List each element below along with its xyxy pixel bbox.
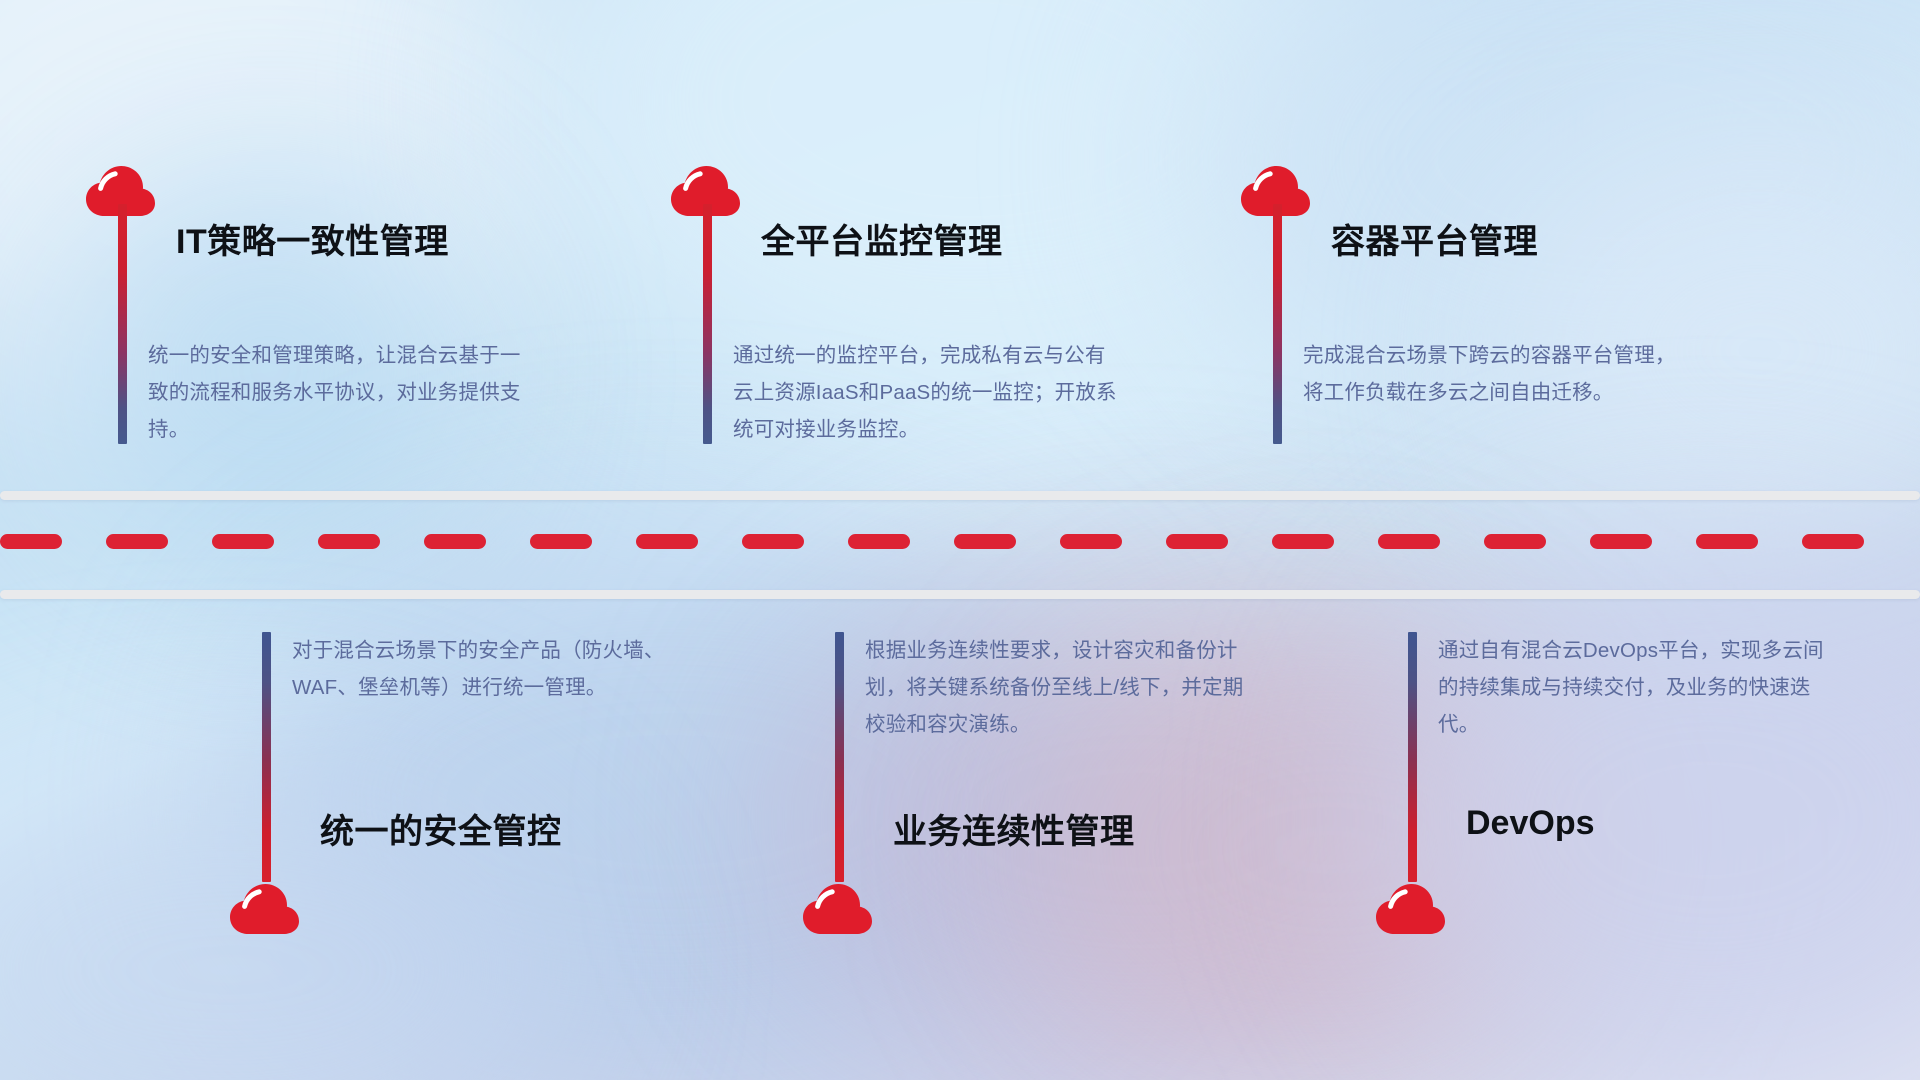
divider-dash <box>1484 534 1546 549</box>
divider-dash <box>1272 534 1334 549</box>
cloud-icon <box>801 880 875 936</box>
cloud-icon <box>228 880 302 936</box>
feature-description: 通过自有混合云DevOps平台，实现多云间的持续集成与持续交付，及业务的快速迭代… <box>1438 632 1828 743</box>
divider-dash <box>106 534 168 549</box>
divider-dash <box>424 534 486 549</box>
divider-dash <box>1696 534 1758 549</box>
cloud-icon <box>1374 880 1448 936</box>
feature-description: 根据业务连续性要求，设计容灾和备份计划，将关键系统备份至线上/线下，并定期校验和… <box>865 632 1255 743</box>
divider-rule-top <box>0 491 1920 500</box>
divider-dash <box>212 534 274 549</box>
divider-dash <box>1166 534 1228 549</box>
divider-dash <box>1378 534 1440 549</box>
divider-dash <box>1590 534 1652 549</box>
divider-dash <box>742 534 804 549</box>
feature-title: 容器平台管理 <box>1331 214 1538 263</box>
infographic-canvas: IT策略一致性管理 统一的安全和管理策略，让混合云基于一致的流程和服务水平协议，… <box>0 0 1920 1080</box>
feature-title: IT策略一致性管理 <box>176 214 449 263</box>
connector-stem <box>1408 632 1417 882</box>
divider-dash <box>1060 534 1122 549</box>
feature-description: 完成混合云场景下跨云的容器平台管理，将工作负载在多云之间自由迁移。 <box>1303 337 1693 411</box>
divider-rule-bottom <box>0 590 1920 599</box>
divider-dash <box>530 534 592 549</box>
feature-title: 业务连续性管理 <box>893 804 1135 853</box>
connector-stem <box>703 204 712 444</box>
connector-stem <box>262 632 271 882</box>
connector-stem <box>835 632 844 882</box>
section-divider <box>0 485 1920 605</box>
feature-description: 通过统一的监控平台，完成私有云与公有云上资源IaaS和PaaS的统一监控；开放系… <box>733 337 1123 448</box>
divider-dash <box>1802 534 1864 549</box>
divider-dash <box>0 534 62 549</box>
feature-title: 统一的安全管控 <box>320 804 562 853</box>
divider-dash <box>318 534 380 549</box>
connector-stem <box>118 204 127 444</box>
divider-dash <box>848 534 910 549</box>
feature-title: DevOps <box>1466 804 1595 843</box>
red-dashed-divider <box>0 533 1920 549</box>
feature-description: 对于混合云场景下的安全产品（防火墙、WAF、堡垒机等）进行统一管理。 <box>292 632 682 706</box>
divider-dash <box>954 534 1016 549</box>
divider-dash <box>636 534 698 549</box>
connector-stem <box>1273 204 1282 444</box>
feature-description: 统一的安全和管理策略，让混合云基于一致的流程和服务水平协议，对业务提供支持。 <box>148 337 538 448</box>
feature-title: 全平台监控管理 <box>761 214 1003 263</box>
